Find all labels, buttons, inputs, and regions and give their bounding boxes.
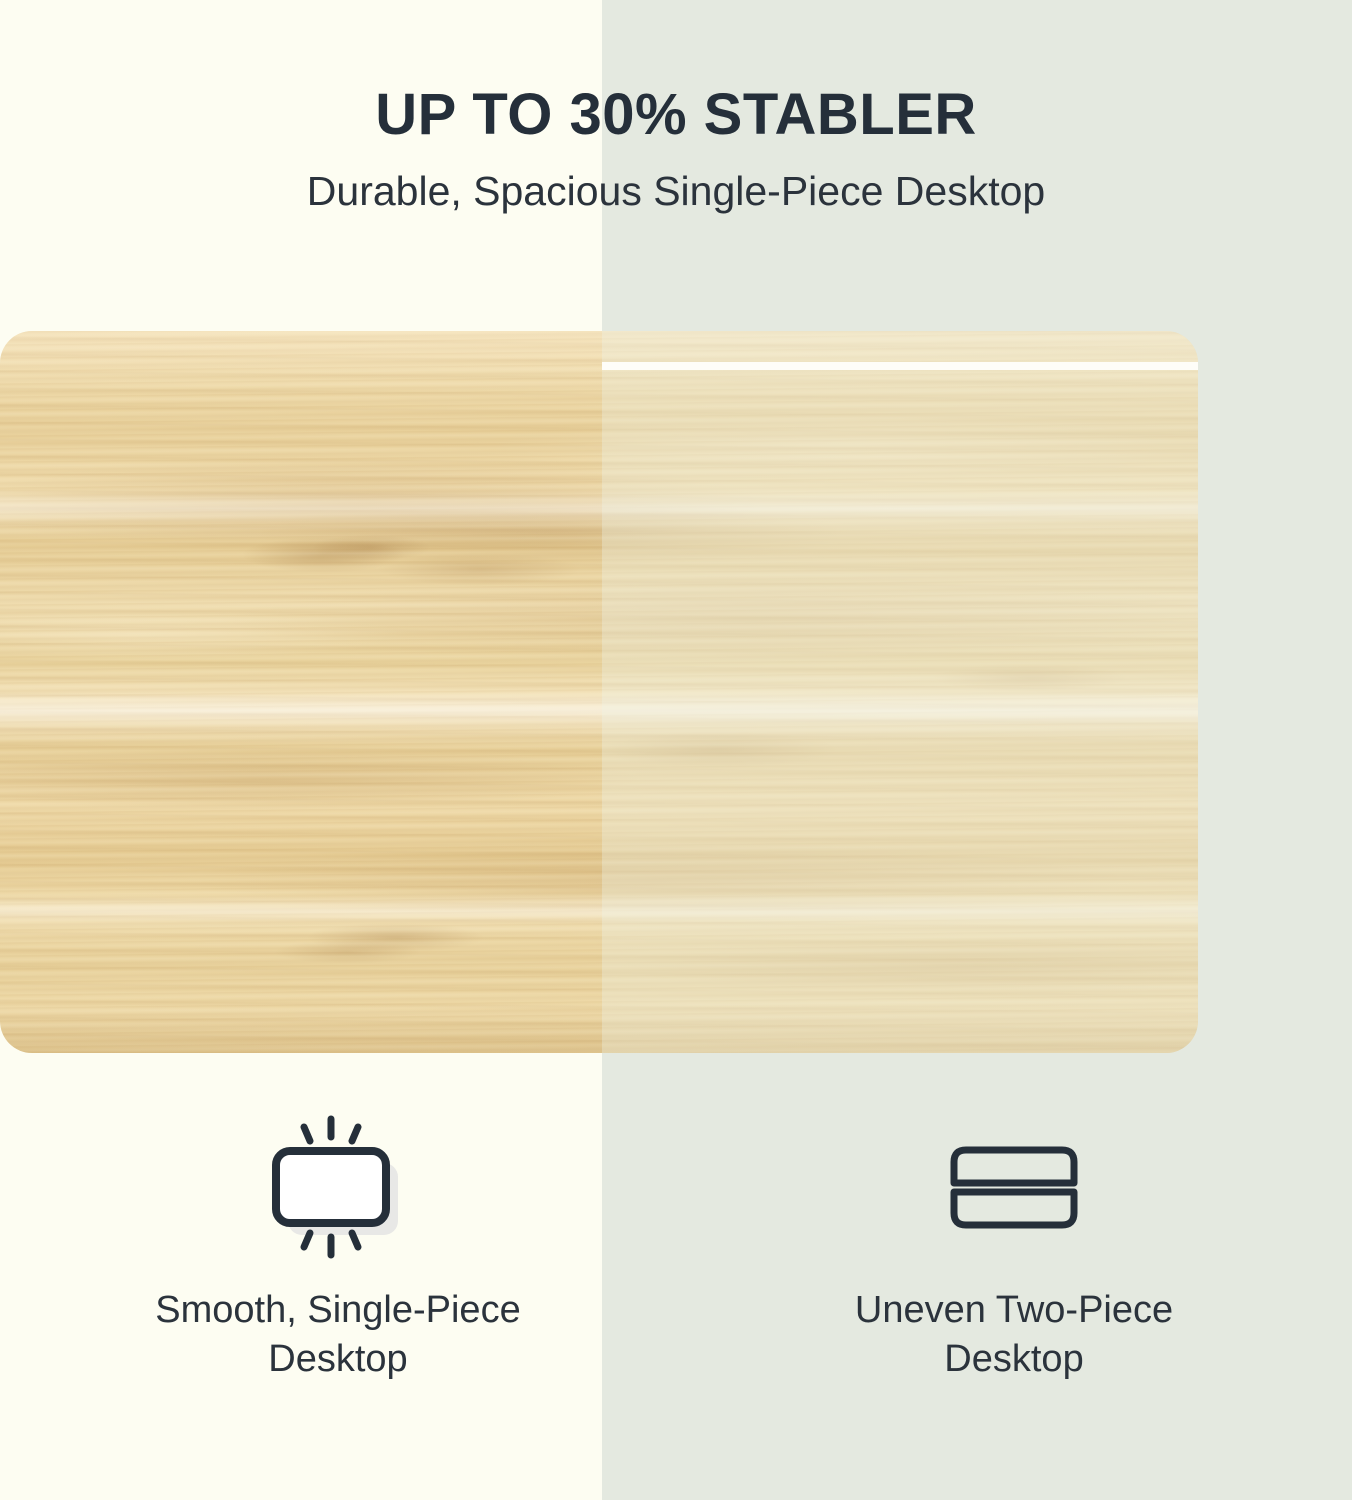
page-title: UP TO 30% STABLER (0, 84, 1352, 147)
two-piece-desktop-split-icon (944, 1110, 1084, 1270)
wood-desktop-slab (0, 331, 1198, 1053)
comparison-tint-overlay (602, 331, 1198, 1053)
single-piece-desktop-shine-icon (258, 1110, 418, 1270)
caption-line-2: Desktop (855, 1335, 1173, 1384)
comparison-caption-two-piece: Uneven Two-Piece Desktop (855, 1286, 1173, 1385)
desktop-seam-line (602, 362, 1198, 370)
comparison-column-two-piece: Uneven Two-Piece Desktop (676, 1110, 1352, 1440)
caption-line-1: Uneven Two-Piece (855, 1286, 1173, 1335)
comparison-row: Smooth, Single-Piece Desktop Uneven Two-… (0, 1110, 1352, 1440)
page-subtitle: Durable, Spacious Single-Piece Desktop (0, 169, 1352, 214)
comparison-column-single-piece: Smooth, Single-Piece Desktop (0, 1110, 676, 1440)
caption-line-2: Desktop (155, 1335, 520, 1384)
header: UP TO 30% STABLER Durable, Spacious Sing… (0, 0, 1352, 214)
comparison-caption-single-piece: Smooth, Single-Piece Desktop (155, 1286, 520, 1385)
caption-line-1: Smooth, Single-Piece (155, 1286, 520, 1335)
